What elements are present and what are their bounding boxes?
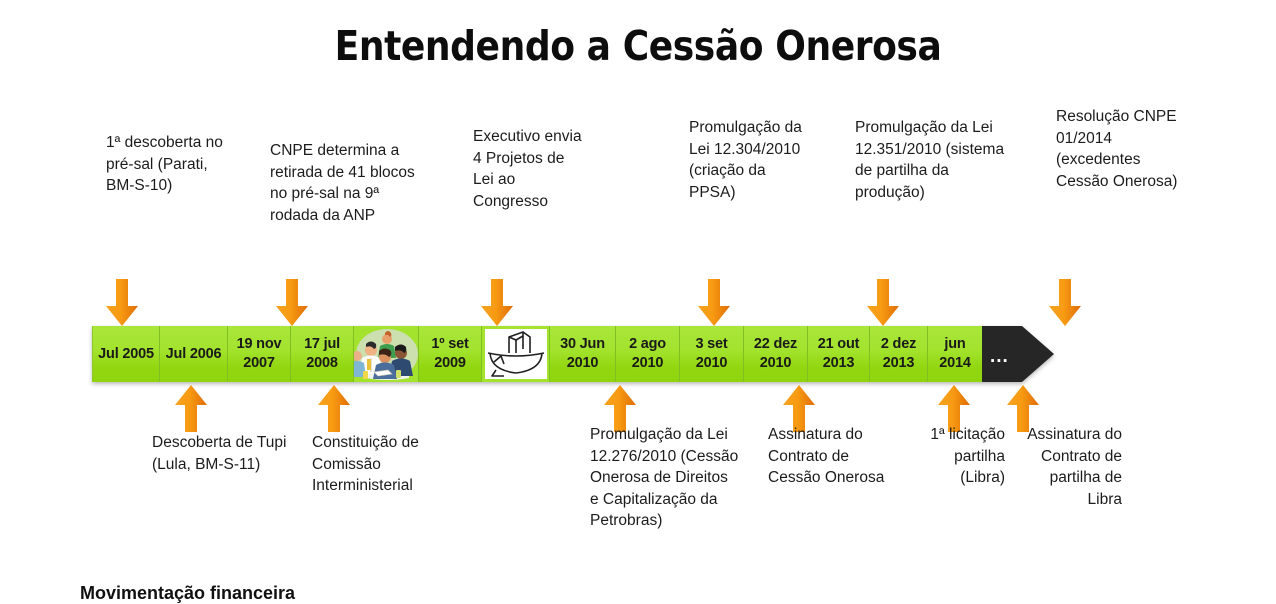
footnote-heading: Movimentação financeira <box>80 583 295 604</box>
timeline-cell-jul-2005[interactable]: Jul 2005 <box>92 326 160 382</box>
timeline-cell-jun-2014[interactable]: jun2014 <box>928 326 982 382</box>
label-executivo-envia: Executivo envia 4 Projetos de Lei ao Con… <box>473 126 583 212</box>
timeline-cell-19-nov-2007[interactable]: 19 nov2007 <box>228 326 291 382</box>
arrow-down-cell-19-nov-2007 <box>275 279 309 327</box>
page-title: Entendendo a Cessão Onerosa <box>77 22 1200 70</box>
label-lei-12276: Promulgação da Lei 12.276/2010 (Cessão O… <box>590 424 740 532</box>
timeline-cell-label: Jul 2005 <box>98 345 154 364</box>
offshore-platform-drawing-icon <box>482 326 549 382</box>
timeline-cell-jul-2006[interactable]: Jul 2006 <box>160 326 228 382</box>
timeline-slide: Entendendo a Cessão Onerosa 1ª descobert… <box>0 0 1276 602</box>
label-lei-12351: Promulgação da Lei 12.351/2010 (sistema … <box>855 117 1005 203</box>
timeline-cell-platform-image[interactable] <box>482 326 550 382</box>
timeline-cell-30-jun-2010[interactable]: 30 Jun2010 <box>550 326 616 382</box>
timeline-cell-label: 1º set2009 <box>431 335 468 373</box>
label-lei-12304: Promulgação da Lei 12.304/2010 (criação … <box>689 117 809 203</box>
timeline-cell-3-set-2010[interactable]: 3 set2010 <box>680 326 744 382</box>
timeline-cell-meeting-image[interactable] <box>354 326 419 382</box>
timeline-cell-label: 2 dez2013 <box>881 335 916 373</box>
arrow-down-cell-1-set-2009 <box>480 279 514 327</box>
timeline-cell-17-jul-2008[interactable]: 17 jul2008 <box>291 326 354 382</box>
timeline-cell-label: 19 nov2007 <box>237 335 282 373</box>
timeline-cell-label: jun2014 <box>939 335 970 373</box>
label-cnpe-retirada: CNPE determina a retirada de 41 blocos n… <box>270 140 430 226</box>
label-1a-descoberta: 1ª descoberta no pré-sal (Parati, BM-S-1… <box>106 132 236 197</box>
arrow-down-cell-jul-2005 <box>105 279 139 327</box>
timeline-cell-22-dez-2010[interactable]: 22 dez2010 <box>744 326 808 382</box>
label-resolucao-cnpe: Resolução CNPE 01/2014 (excedentes Cessã… <box>1056 106 1181 192</box>
label-assinatura-cessao: Assinatura do Contrato de Cessão Onerosa <box>768 424 893 489</box>
label-comissao: Constituição de Comissão Interministeria… <box>312 432 462 497</box>
timeline-cell-2-dez-2013[interactable]: 2 dez2013 <box>870 326 928 382</box>
arrow-up-cell-17-jul-2008 <box>317 384 351 432</box>
timeline-cell-label: Jul 2006 <box>166 345 222 364</box>
timeline-cell-1-set-2009[interactable]: 1º set2009 <box>419 326 482 382</box>
timeline-cell-label: 21 out2013 <box>818 335 860 373</box>
timeline-cell-label: 17 jul2008 <box>304 335 340 373</box>
timeline-end-marker: ... <box>990 352 1009 362</box>
label-contrato-partilha-libra: Assinatura do Contrato de partilha de Li… <box>1012 424 1122 510</box>
timeline-cell-label: 22 dez2010 <box>754 335 797 373</box>
arrow-down-cell-jun-2014 <box>1048 279 1082 327</box>
label-licitacao-libra: 1ª licitação partilha (Libra) <box>915 424 1005 489</box>
label-descoberta-tupi: Descoberta de Tupi (Lula, BM-S-11) <box>152 432 292 475</box>
timeline-end-cap: ... <box>982 326 1054 382</box>
arrow-down-cell-2-ago-2010 <box>697 279 731 327</box>
timeline-cell-2-ago-2010[interactable]: 2 ago2010 <box>616 326 680 382</box>
meeting-people-clipart-icon <box>354 326 418 382</box>
timeline-cell-label: 2 ago2010 <box>629 335 666 373</box>
arrow-down-cell-22-dez-2010 <box>866 279 900 327</box>
timeline-cell-21-out-2013[interactable]: 21 out2013 <box>808 326 870 382</box>
timeline-cell-label: 3 set2010 <box>695 335 727 373</box>
arrow-up-cell-jul-2006 <box>174 384 208 432</box>
timeline-bar: Jul 2005 Jul 2006 19 nov2007 17 jul2008 <box>92 326 1054 382</box>
timeline-cell-label: 30 Jun2010 <box>560 335 605 373</box>
